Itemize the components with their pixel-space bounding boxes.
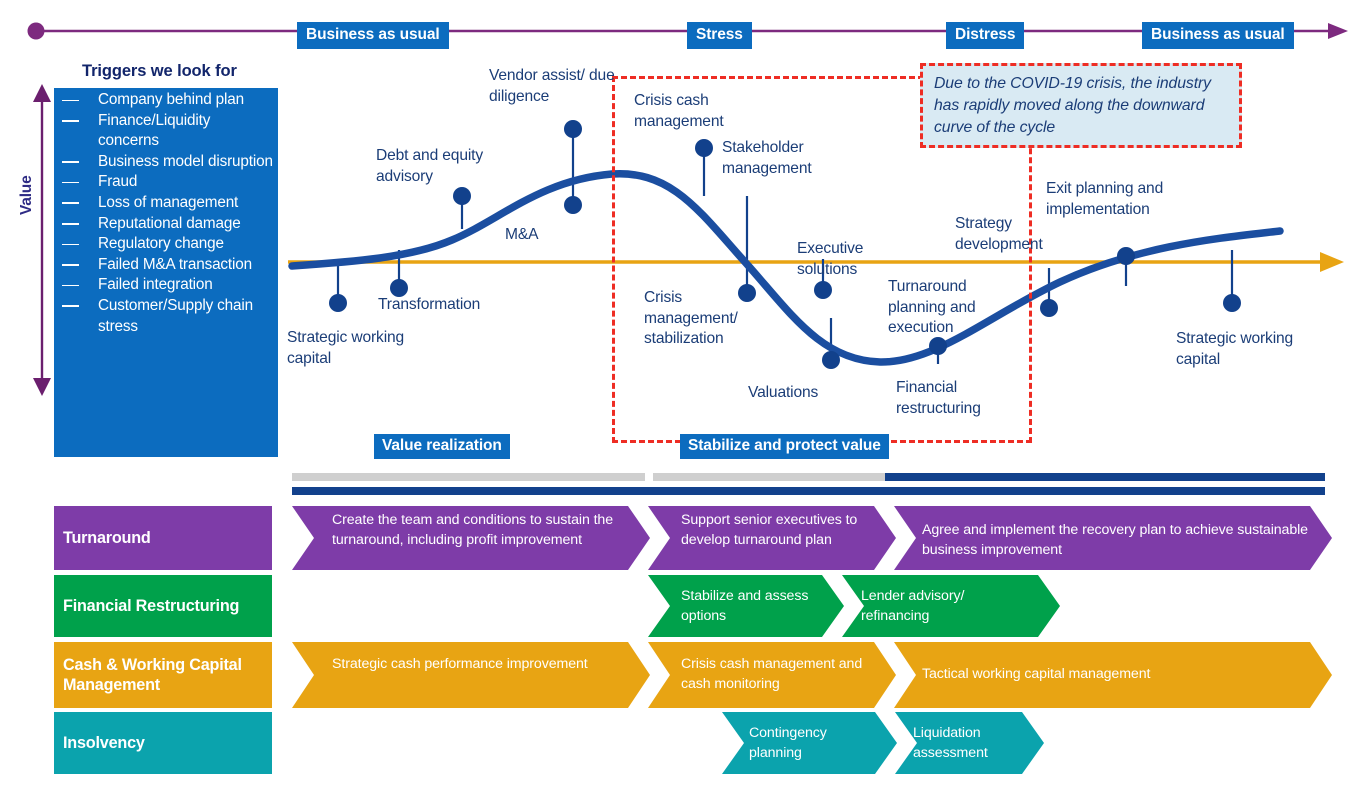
diagram-canvas: Business as usual Stress Distress Busine… (0, 0, 1362, 798)
chevron-text-cash-wc-3: Tactical working capital management (922, 665, 1312, 685)
chevron-text-cash-wc-1: Strategic cash performance improvement (332, 655, 620, 675)
chevron-text-financial-restructuring-1: Stabilize and assess options (681, 587, 821, 626)
chevron-text-insolvency-2: Liquidation assessment (913, 724, 1033, 763)
chevron-text-cash-wc-2: Crisis cash management and cash monitori… (681, 655, 881, 694)
chevron-text-turnaround-1: Create the team and conditions to sustai… (332, 511, 620, 550)
chevron-text-turnaround-2: Support senior executives to develop tur… (681, 511, 871, 550)
chevron-text-insolvency-1: Contingency planning (749, 724, 869, 763)
chevron-text-financial-restructuring-2: Lender advisory/ refinancing (861, 587, 1031, 626)
chevron-cash-wc-1[interactable] (292, 642, 650, 708)
chevron-text-turnaround-3: Agree and implement the recovery plan to… (922, 521, 1312, 560)
